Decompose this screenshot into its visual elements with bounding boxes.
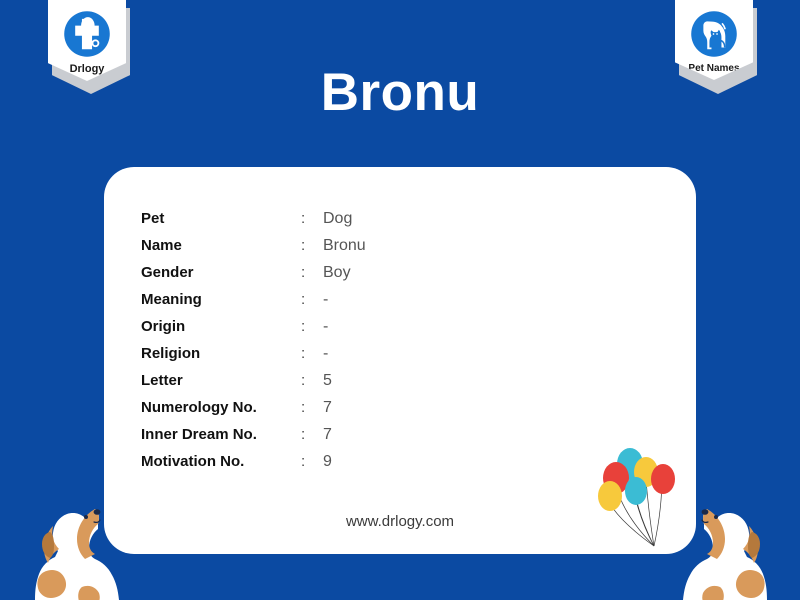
row-label: Motivation No. <box>141 453 301 470</box>
table-row: Motivation No. : 9 <box>141 453 366 480</box>
row-value: 5 <box>323 372 332 390</box>
pet-details-table: Pet : Dog Name : Bronu Gender : Boy Mean… <box>141 210 366 480</box>
row-label: Meaning <box>141 291 301 308</box>
row-label: Numerology No. <box>141 399 301 416</box>
table-row: Numerology No. : 7 <box>141 399 366 426</box>
table-row: Letter : 5 <box>141 372 366 399</box>
row-value: 7 <box>323 426 332 444</box>
row-label: Name <box>141 237 301 254</box>
dog-illustration-left <box>20 492 128 600</box>
row-separator: : <box>301 210 323 227</box>
row-value: 9 <box>323 453 332 471</box>
table-row: Religion : - <box>141 345 366 372</box>
row-separator: : <box>301 237 323 254</box>
table-row: Pet : Dog <box>141 210 366 237</box>
row-value: Bronu <box>323 237 366 255</box>
row-label: Inner Dream No. <box>141 426 301 443</box>
dog-cat-logo-icon <box>687 7 741 61</box>
row-separator: : <box>301 291 323 308</box>
row-separator: : <box>301 318 323 335</box>
row-label: Pet <box>141 210 301 227</box>
row-label: Religion <box>141 345 301 362</box>
table-row: Gender : Boy <box>141 264 366 291</box>
dog-illustration-right <box>674 492 782 600</box>
row-label: Origin <box>141 318 301 335</box>
row-separator: : <box>301 453 323 470</box>
pet-name-info-card: Pet : Dog Name : Bronu Gender : Boy Mean… <box>104 167 696 554</box>
row-value: - <box>323 318 328 336</box>
row-value: - <box>323 345 328 363</box>
row-label: Letter <box>141 372 301 389</box>
table-row: Name : Bronu <box>141 237 366 264</box>
row-separator: : <box>301 426 323 443</box>
row-value: - <box>323 291 328 309</box>
table-row: Inner Dream No. : 7 <box>141 426 366 453</box>
brand-badge-pet-names[interactable]: Pet Names <box>675 0 753 80</box>
table-row: Meaning : - <box>141 291 366 318</box>
row-value: Boy <box>323 264 351 282</box>
row-label: Gender <box>141 264 301 281</box>
table-row: Origin : - <box>141 318 366 345</box>
row-separator: : <box>301 399 323 416</box>
brand-badge-drlogy[interactable]: Drlogy <box>48 0 126 81</box>
row-separator: : <box>301 345 323 362</box>
drlogy-medical-logo-icon <box>60 7 114 61</box>
row-separator: : <box>301 264 323 281</box>
row-value: 7 <box>323 399 332 417</box>
row-value: Dog <box>323 210 352 228</box>
row-separator: : <box>301 372 323 389</box>
